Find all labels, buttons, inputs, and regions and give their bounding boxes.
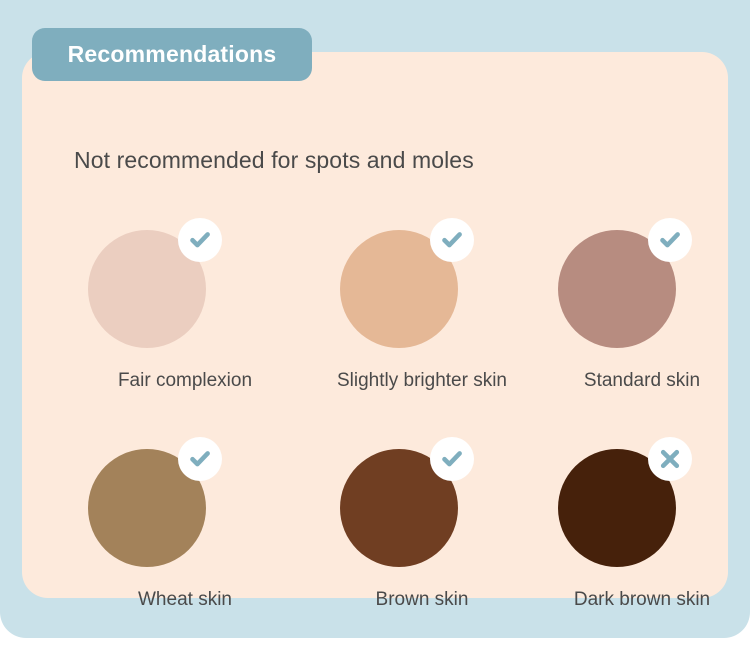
recommendations-card: Not recommended for spots and moles Fair… [22,52,728,598]
skin-tone-swatch-wrap [340,449,458,567]
skin-tone-label: Standard skin [510,370,730,392]
skin-tone-label: Slightly brighter skin [290,370,510,392]
check-icon [430,437,474,481]
skin-tone-swatch-wrap [88,449,206,567]
skin-tone-label: Brown skin [290,589,510,611]
skin-tone-label: Wheat skin [70,589,290,611]
skin-tone-item[interactable]: Slightly brighter skin [290,230,510,415]
subtitle-text: Not recommended for spots and moles [74,147,474,174]
outer-panel: Not recommended for spots and moles Fair… [0,0,750,638]
skin-tone-swatch-wrap [88,230,206,348]
cross-icon [648,437,692,481]
skin-tone-item[interactable]: Standard skin [510,230,730,415]
skin-tone-swatch-wrap [558,449,676,567]
skin-tone-item[interactable]: Wheat skin [70,449,290,634]
skin-tone-item[interactable]: Fair complexion [70,230,290,415]
skin-tone-swatch-wrap [558,230,676,348]
skin-tone-swatch-wrap [340,230,458,348]
skin-tone-grid: Fair complexionSlightly brighter skinSta… [70,230,730,634]
check-icon [648,218,692,262]
skin-tone-item[interactable]: Brown skin [290,449,510,634]
skin-tone-item[interactable]: Dark brown skin [510,449,730,634]
check-icon [430,218,474,262]
check-icon [178,437,222,481]
tab-recommendations[interactable]: Recommendations [32,28,312,81]
skin-tone-label: Dark brown skin [510,589,730,611]
skin-tone-label: Fair complexion [70,370,290,392]
check-icon [178,218,222,262]
tab-recommendations-label: Recommendations [68,41,277,68]
